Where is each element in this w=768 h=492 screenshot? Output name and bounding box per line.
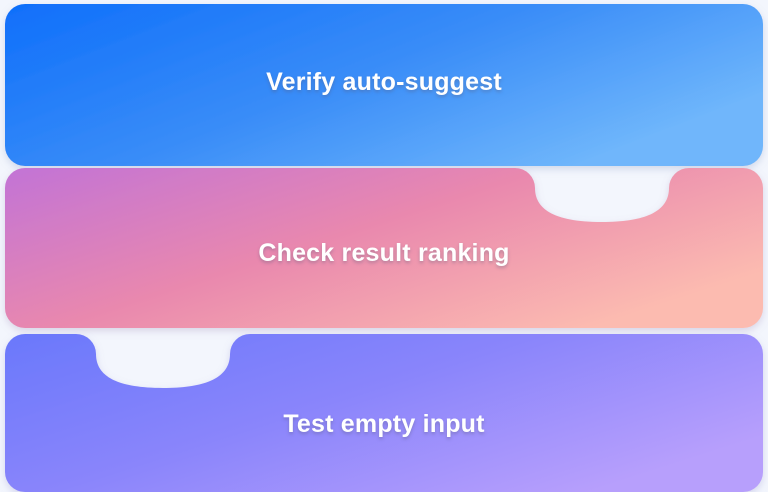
card-stack-canvas: Verify auto-suggest Check result ranking… bbox=[0, 0, 768, 492]
card-3-label: Test empty input bbox=[0, 412, 768, 437]
card-2-label: Check result ranking bbox=[0, 241, 768, 266]
card-1-label: Verify auto-suggest bbox=[0, 70, 768, 95]
